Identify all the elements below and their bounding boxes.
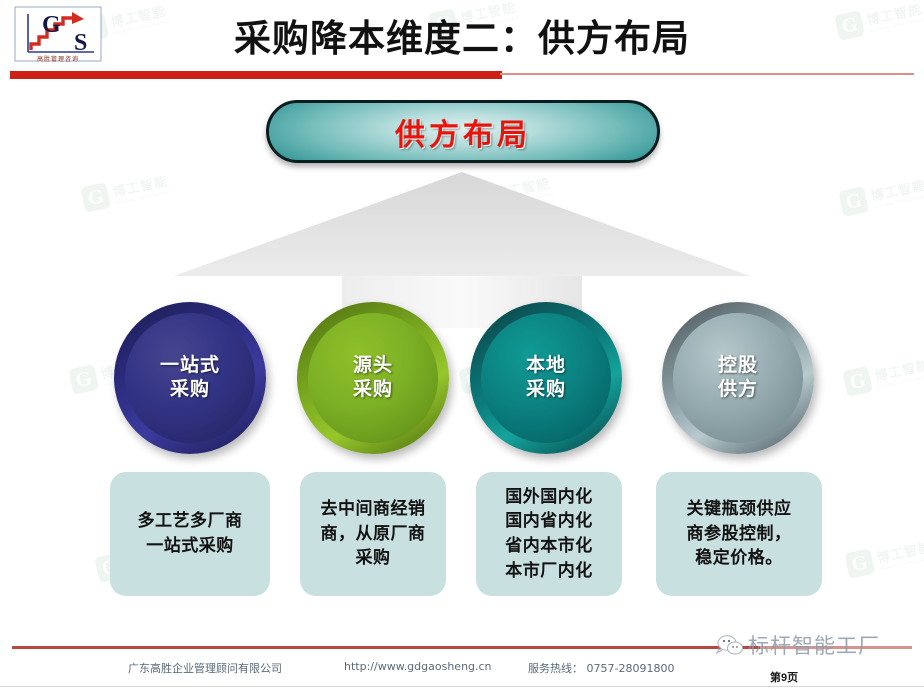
pillar-desc-text: 关键瓶颈供应 商参股控制， 稳定价格。 (687, 497, 792, 571)
pillar-desc-local: 国外国内化 国内省内化 省内本市化 本市厂内化 (476, 472, 622, 596)
pillar-circle-holding[interactable]: 控股 供方 (662, 302, 814, 454)
page-number: 第9页 (770, 669, 798, 685)
watermark-tile: G 博工智能BOGONG INTELLIGENCE (80, 169, 172, 213)
pillar-desc-text: 国外国内化 国内省内化 省内本市化 本市厂内化 (505, 485, 593, 584)
pillar-circle-label: 一站式 采购 (160, 354, 220, 402)
svg-text:S: S (74, 30, 87, 56)
banner-pill[interactable]: 供方布局 (266, 100, 660, 163)
wechat-account-name: 标杆智能工厂 (748, 630, 880, 660)
watermark-tile: G 博工智能BOGONG INTELLIGENCE (842, 353, 924, 397)
pillar-circle-inner: 本地 采购 (481, 313, 611, 443)
pillar-circle-local[interactable]: 本地 采购 (470, 302, 622, 454)
pillar-circle-label: 控股 供方 (718, 354, 758, 402)
wechat-account-watermark: 标杆智能工厂 (716, 628, 916, 662)
pillar-circle-label: 源头 采购 (353, 354, 393, 402)
svg-text:G: G (42, 12, 61, 38)
watermark-text: 博工智能BOGONG INTELLIGENCE (873, 354, 924, 389)
slide-bottom-edge (0, 686, 924, 692)
watermark-badge-icon: G (842, 366, 873, 397)
company-logo-caption: 高胜管理咨询 (14, 54, 102, 63)
footer-hotline: 服务热线： 0757-28091800 (528, 660, 674, 676)
up-arrow-icon (172, 170, 752, 330)
watermark-text: 博工智能BOGONG INTELLIGENCE (111, 170, 172, 205)
pillar-desc-source: 去中间商经销 商，从原厂商 采购 (300, 472, 446, 596)
pillar-circle-label: 本地 采购 (526, 354, 566, 402)
slide-canvas: G 博工智能BOGONG INTELLIGENCE G 博工智能BOGONG I… (0, 0, 924, 692)
watermark-tile: G 博工智能BOGONG INTELLIGENCE (838, 173, 924, 217)
footer-url[interactable]: http://www.gdgaosheng.cn (344, 660, 492, 673)
watermark-badge-icon: G (80, 182, 111, 213)
footer-rule (12, 646, 760, 649)
wechat-icon (716, 633, 744, 657)
watermark-badge-icon: G (838, 186, 869, 217)
pillar-circle-one-stop[interactable]: 一站式 采购 (114, 302, 266, 454)
pillar-circle-source[interactable]: 源头 采购 (297, 302, 449, 454)
watermark-tile: G 博工智能BOGONG INTELLIGENCE (844, 535, 924, 579)
page-title: 采购降本维度二：供方布局 (0, 8, 924, 62)
pillar-circle-inner: 控股 供方 (673, 313, 803, 443)
watermark-text: 博工智能BOGONG INTELLIGENCE (875, 536, 924, 571)
watermark-badge-icon: G (844, 548, 875, 579)
header-rule-thick (10, 71, 502, 79)
pillar-circle-inner: 源头 采购 (308, 313, 438, 443)
header-rule-thin (500, 73, 914, 75)
banner-label: 供方布局 (269, 103, 657, 160)
pillar-desc-text: 多工艺多厂商 一站式采购 (138, 509, 243, 558)
pillar-desc-text: 去中间商经销 商，从原厂商 采购 (321, 497, 426, 571)
footer-company: 广东高胜企业管理顾问有限公司 (128, 660, 282, 676)
pillar-desc-holding: 关键瓶颈供应 商参股控制， 稳定价格。 (656, 472, 822, 596)
watermark-badge-icon: G (68, 364, 99, 395)
pillar-desc-one-stop: 多工艺多厂商 一站式采购 (110, 472, 270, 596)
watermark-text: 博工智能BOGONG INTELLIGENCE (869, 174, 924, 209)
pillar-circle-inner: 一站式 采购 (125, 313, 255, 443)
